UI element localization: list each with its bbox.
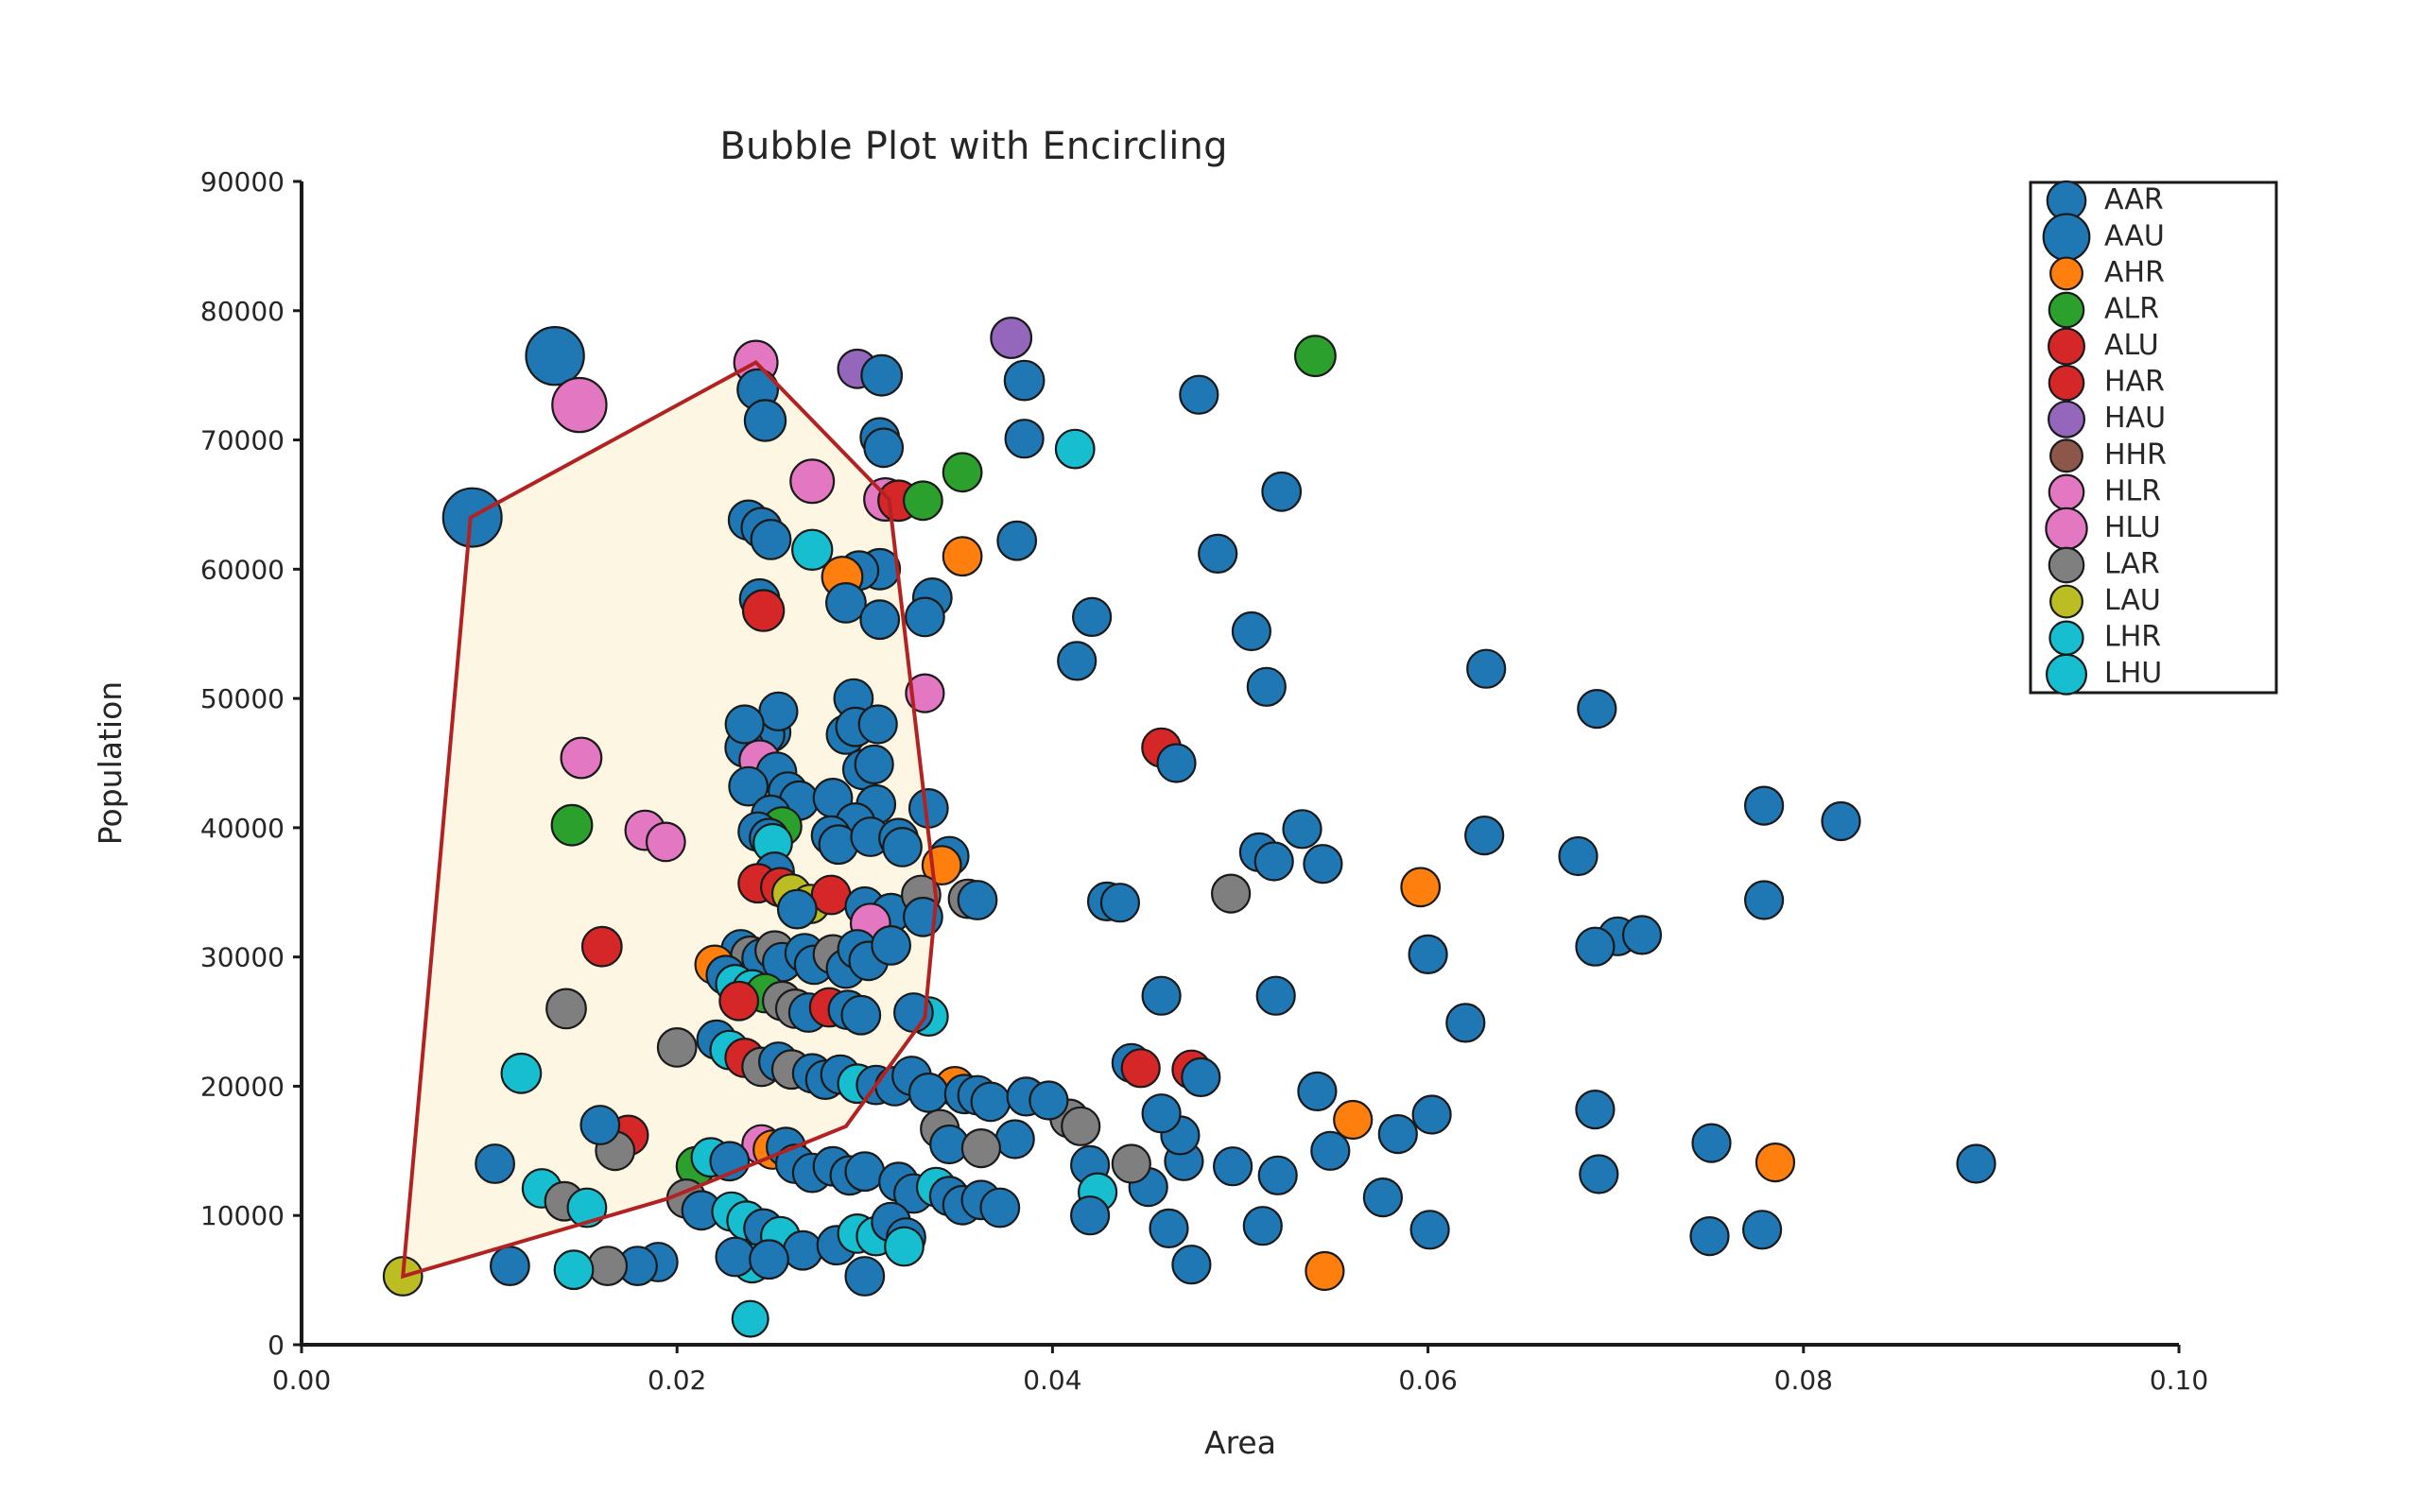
bubble-aar[interactable] bbox=[1073, 598, 1111, 636]
x-tick-label: 0.06 bbox=[1398, 1365, 1457, 1396]
y-tick-label: 40000 bbox=[200, 813, 285, 844]
bubble-aar[interactable] bbox=[1311, 1132, 1349, 1170]
bubble-aar[interactable] bbox=[726, 706, 764, 744]
legend-marker-lau[interactable] bbox=[2050, 586, 2083, 618]
legend-label-lhr[interactable]: LHR bbox=[2104, 621, 2161, 654]
legend-marker-alr[interactable] bbox=[2049, 293, 2083, 327]
bubble-aar[interactable] bbox=[752, 520, 791, 559]
bubble-lhu[interactable] bbox=[555, 1250, 594, 1289]
bubble-aar[interactable] bbox=[883, 828, 922, 867]
bubble-aar[interactable] bbox=[475, 1144, 514, 1183]
bubble-aar[interactable] bbox=[1255, 843, 1293, 881]
bubble-aar[interactable] bbox=[1257, 977, 1295, 1015]
bubble-aar[interactable] bbox=[997, 522, 1036, 560]
bubble-aar[interactable] bbox=[1465, 816, 1503, 854]
bubble-alu[interactable] bbox=[582, 927, 622, 967]
bubble-lhu[interactable] bbox=[502, 1054, 542, 1093]
bubble-aar[interactable] bbox=[1150, 1210, 1188, 1247]
legend-marker-aau[interactable] bbox=[2044, 215, 2090, 261]
bubble-aar[interactable] bbox=[1172, 1246, 1210, 1283]
y-tick-label: 70000 bbox=[200, 425, 285, 456]
bubble-lar[interactable] bbox=[1212, 875, 1250, 913]
bubble-aau[interactable] bbox=[826, 583, 866, 623]
bubble-lhr[interactable] bbox=[733, 1301, 769, 1337]
x-tick-label: 0.08 bbox=[1774, 1365, 1833, 1396]
x-tick-label: 0.04 bbox=[1023, 1365, 1081, 1396]
bubble-aar[interactable] bbox=[996, 1121, 1034, 1159]
bubble-aar[interactable] bbox=[1691, 1217, 1729, 1255]
bubble-aar[interactable] bbox=[1560, 837, 1598, 875]
bubble-aar[interactable] bbox=[1005, 361, 1045, 401]
bubble-lhu[interactable] bbox=[1056, 430, 1095, 469]
scatter-plot-canvas: 0.000.020.040.060.080.100100002000030000… bbox=[0, 0, 2420, 1512]
chart-root: Bubble Plot with Encircling 0.000.020.04… bbox=[0, 0, 2420, 1512]
bubble-aar[interactable] bbox=[1298, 1073, 1336, 1110]
y-tick-label: 30000 bbox=[200, 942, 285, 973]
legend-label-aar[interactable]: AAR bbox=[2104, 183, 2164, 216]
bubble-aar[interactable] bbox=[527, 327, 584, 385]
bubble-lar[interactable] bbox=[962, 1129, 1000, 1167]
bubble-ahr[interactable] bbox=[1334, 1101, 1372, 1139]
bubble-aar[interactable] bbox=[1143, 1094, 1181, 1132]
bubble-aar[interactable] bbox=[1413, 1096, 1451, 1134]
bubble-aar[interactable] bbox=[1411, 1211, 1449, 1248]
bubble-lar[interactable] bbox=[1113, 1145, 1150, 1183]
bubble-aar[interactable] bbox=[1576, 1091, 1614, 1128]
bubble-ahr[interactable] bbox=[1756, 1143, 1794, 1181]
bubble-lar[interactable] bbox=[546, 989, 586, 1029]
y-tick-label: 20000 bbox=[200, 1071, 285, 1102]
bubble-hlr[interactable] bbox=[790, 459, 834, 503]
bubble-aar[interactable] bbox=[1823, 802, 1860, 840]
legend-label-hhr[interactable]: HHR bbox=[2104, 438, 2167, 472]
bubble-aar[interactable] bbox=[1745, 787, 1783, 825]
legend-marker-lar[interactable] bbox=[2049, 548, 2083, 582]
bubble-aar[interactable] bbox=[1058, 642, 1096, 679]
legend-label-lar[interactable]: LAR bbox=[2104, 548, 2160, 581]
bubble-aar[interactable] bbox=[1304, 845, 1341, 883]
bubble-aar[interactable] bbox=[846, 1257, 885, 1296]
bubble-aar[interactable] bbox=[860, 600, 899, 639]
bubble-aar[interactable] bbox=[759, 693, 797, 730]
bubble-ahr[interactable] bbox=[1305, 1252, 1343, 1290]
bubble-aar[interactable] bbox=[846, 1152, 885, 1191]
x-axis-label: Area bbox=[1204, 1424, 1276, 1461]
legend-marker-alu[interactable] bbox=[2048, 329, 2084, 365]
bubble-aar[interactable] bbox=[972, 1083, 1011, 1122]
legend-marker-hlr[interactable] bbox=[2049, 475, 2083, 509]
bubble-aar[interactable] bbox=[1446, 1004, 1484, 1041]
bubble-lar[interactable] bbox=[588, 1246, 627, 1285]
bubble-aar[interactable] bbox=[1580, 1156, 1617, 1194]
bubble-aar[interactable] bbox=[1143, 977, 1181, 1015]
bubble-aar[interactable] bbox=[784, 1231, 822, 1270]
bubble-aar[interactable] bbox=[1576, 928, 1614, 966]
bubble-aar[interactable] bbox=[778, 890, 817, 929]
legend-label-alr[interactable]: ALR bbox=[2104, 293, 2159, 326]
legend-marker-hau[interactable] bbox=[2048, 402, 2084, 438]
bubble-ahr[interactable] bbox=[1401, 868, 1440, 907]
bubble-aar[interactable] bbox=[1214, 1147, 1252, 1185]
legend-label-aau[interactable]: AAU bbox=[2104, 219, 2165, 252]
y-tick-label: 90000 bbox=[200, 166, 285, 198]
bubble-aar[interactable] bbox=[1743, 1211, 1781, 1248]
bubble-alu[interactable] bbox=[812, 876, 851, 915]
legend-label-lhu[interactable]: LHU bbox=[2104, 657, 2162, 690]
bubble-hau[interactable] bbox=[991, 318, 1031, 358]
legend-marker-lhu[interactable] bbox=[2047, 655, 2086, 695]
bubble-aar[interactable] bbox=[1199, 535, 1236, 573]
bubble-aar[interactable] bbox=[1364, 1178, 1402, 1216]
bubble-aar[interactable] bbox=[1259, 1157, 1297, 1194]
bubble-aau[interactable] bbox=[906, 598, 944, 637]
bubble-alr[interactable] bbox=[552, 805, 593, 846]
bubble-aar[interactable] bbox=[581, 1106, 620, 1144]
legend: AARAAUAHRALRALUHARHAUHHRHLRHLULARLAULHRL… bbox=[2031, 181, 2276, 695]
bubble-aar[interactable] bbox=[1578, 690, 1616, 728]
y-tick-label: 60000 bbox=[200, 554, 285, 585]
bubble-aar[interactable] bbox=[1182, 1058, 1219, 1096]
bubble-aar[interactable] bbox=[1071, 1196, 1109, 1234]
legend-marker-ahr[interactable] bbox=[2050, 258, 2083, 290]
bubble-aar[interactable] bbox=[1248, 668, 1286, 706]
legend-label-hau[interactable]: HAU bbox=[2104, 402, 2166, 435]
y-tick-label: 10000 bbox=[200, 1200, 285, 1231]
bubble-aar[interactable] bbox=[959, 881, 997, 919]
bubble-aar[interactable] bbox=[1029, 1082, 1067, 1120]
bubble-aar[interactable] bbox=[1244, 1207, 1282, 1245]
bubble-aar[interactable] bbox=[859, 706, 897, 744]
bubble-alu[interactable] bbox=[719, 982, 758, 1021]
bubble-hlr[interactable] bbox=[562, 738, 602, 779]
bubble-hlu[interactable] bbox=[552, 378, 606, 432]
bubble-aar[interactable] bbox=[717, 1238, 755, 1277]
legend-marker-hhr[interactable] bbox=[2050, 439, 2083, 472]
bubble-aar[interactable] bbox=[909, 1074, 948, 1112]
bubble-lar[interactable] bbox=[658, 1028, 697, 1067]
x-tick-label: 0.00 bbox=[272, 1365, 331, 1396]
bubble-aau[interactable] bbox=[861, 355, 902, 396]
bubble-aar[interactable] bbox=[864, 429, 903, 468]
y-tick-label: 50000 bbox=[200, 683, 285, 714]
y-axis-label: Population bbox=[92, 681, 129, 845]
legend-label-ahr[interactable]: AHR bbox=[2104, 256, 2165, 289]
bubble-lar[interactable] bbox=[1062, 1108, 1099, 1145]
bubble-alr[interactable] bbox=[1295, 335, 1336, 376]
bubble-aar[interactable] bbox=[491, 1246, 529, 1285]
legend-label-har[interactable]: HAR bbox=[2104, 366, 2165, 399]
bubble-alr[interactable] bbox=[943, 454, 982, 492]
bubble-ahr[interactable] bbox=[943, 537, 982, 576]
bubble-aar[interactable] bbox=[842, 996, 881, 1035]
bubble-aar[interactable] bbox=[750, 1240, 788, 1279]
x-tick-label: 0.10 bbox=[2150, 1365, 2208, 1396]
legend-label-hlr[interactable]: HLR bbox=[2104, 474, 2161, 507]
legend-marker-har[interactable] bbox=[2049, 366, 2083, 400]
bubble-aar[interactable] bbox=[1745, 882, 1783, 919]
legend-label-hlu[interactable]: HLU bbox=[2104, 511, 2161, 544]
bubble-alu[interactable] bbox=[743, 591, 784, 631]
bubble-aar[interactable] bbox=[1958, 1145, 1996, 1183]
bubble-har[interactable] bbox=[1122, 1049, 1160, 1087]
bubble-aar[interactable] bbox=[1284, 810, 1322, 848]
bubble-aar[interactable] bbox=[1409, 936, 1447, 973]
bubble-hlr[interactable] bbox=[647, 823, 685, 862]
bubble-aar[interactable] bbox=[856, 746, 893, 783]
legend-label-lau[interactable]: LAU bbox=[2104, 584, 2161, 617]
bubble-aar[interactable] bbox=[1379, 1115, 1417, 1153]
legend-label-alu[interactable]: ALU bbox=[2104, 329, 2159, 362]
legend-marker-lhr[interactable] bbox=[2049, 622, 2083, 655]
bubble-aar[interactable] bbox=[1158, 745, 1196, 782]
bubble-aar[interactable] bbox=[1623, 916, 1661, 954]
x-tick-label: 0.02 bbox=[648, 1365, 706, 1396]
y-tick-label: 0 bbox=[268, 1330, 285, 1361]
bubble-aar[interactable] bbox=[872, 926, 910, 965]
bubble-lhu[interactable] bbox=[885, 1228, 924, 1266]
bubble-aar[interactable] bbox=[1262, 472, 1301, 511]
bubble-aar[interactable] bbox=[1180, 376, 1218, 414]
bubble-aar[interactable] bbox=[1006, 420, 1044, 457]
bubble-aar[interactable] bbox=[1693, 1125, 1731, 1162]
bubble-aar[interactable] bbox=[745, 400, 786, 440]
legend-marker-hlu[interactable] bbox=[2046, 508, 2086, 549]
bubble-aar[interactable] bbox=[1233, 612, 1270, 650]
bubble-aar[interactable] bbox=[981, 1189, 1020, 1228]
y-tick-label: 80000 bbox=[200, 296, 285, 327]
bubble-alr[interactable] bbox=[904, 482, 942, 521]
bubble-aar[interactable] bbox=[1467, 650, 1505, 688]
bubble-aar[interactable] bbox=[1101, 884, 1139, 921]
